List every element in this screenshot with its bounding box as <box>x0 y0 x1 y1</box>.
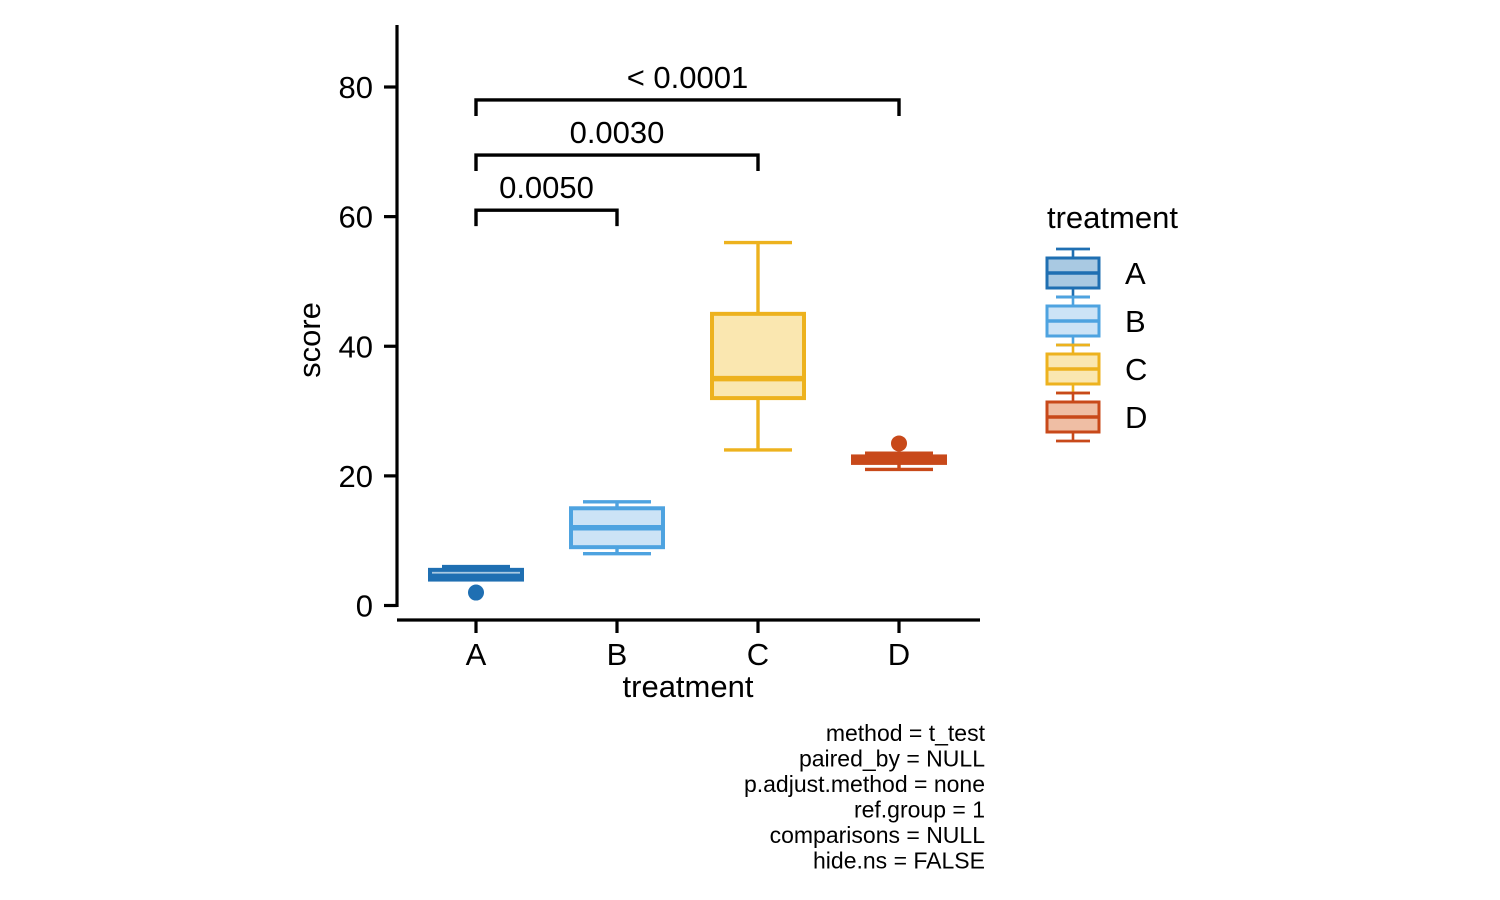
p-value-label: < 0.0001 <box>627 60 749 95</box>
legend-item-a[interactable]: A <box>1047 249 1146 297</box>
caption-line: comparisons = NULL <box>770 822 986 848</box>
y-tick-label: 80 <box>339 70 373 105</box>
legend-item-d[interactable]: D <box>1047 393 1147 441</box>
x-tick-label: D <box>888 637 910 672</box>
caption-block: method = t_testpaired_by = NULLp.adjust.… <box>744 720 986 874</box>
y-tick-label: 40 <box>339 329 373 364</box>
y-tick-label: 60 <box>339 200 373 235</box>
y-axis-title: score <box>292 302 327 378</box>
caption-line: p.adjust.method = none <box>744 771 985 797</box>
boxplot-series <box>430 243 945 601</box>
boxplot-figure: 020406080 ABCD score treatment < 0.00010… <box>0 0 1500 900</box>
significance-bracket: 0.0050 <box>476 170 617 226</box>
x-axis-ticks: ABCD <box>466 620 911 672</box>
boxplot-d[interactable] <box>853 435 945 469</box>
legend-label: C <box>1125 352 1147 387</box>
caption-line: ref.group = 1 <box>854 797 985 823</box>
legend-item-b[interactable]: B <box>1047 297 1146 345</box>
chart-root: 020406080 ABCD score treatment < 0.00010… <box>0 0 1500 900</box>
boxplot-a[interactable] <box>430 567 522 601</box>
box-iqr <box>712 314 804 398</box>
bracket-path <box>476 100 899 116</box>
caption-line: paired_by = NULL <box>799 746 985 772</box>
y-tick-label: 0 <box>356 589 373 624</box>
outlier-point <box>468 585 484 601</box>
x-tick-label: B <box>607 637 628 672</box>
legend-item-c[interactable]: C <box>1047 345 1147 393</box>
boxplot-b[interactable] <box>571 502 663 554</box>
legend-label: A <box>1125 256 1146 291</box>
legend: ABCD <box>1047 249 1147 441</box>
legend-label: B <box>1125 304 1146 339</box>
p-value-label: 0.0050 <box>499 170 594 205</box>
boxplot-c[interactable] <box>712 243 804 450</box>
significance-brackets: < 0.00010.00300.0050 <box>476 60 899 226</box>
x-tick-label: C <box>747 637 769 672</box>
caption-line: hide.ns = FALSE <box>813 848 985 874</box>
outlier-point <box>891 435 907 451</box>
significance-bracket: < 0.0001 <box>476 60 899 116</box>
y-axis-ticks: 020406080 <box>339 70 397 624</box>
x-tick-label: A <box>466 637 487 672</box>
significance-bracket: 0.0030 <box>476 115 758 171</box>
legend-title: treatment <box>1047 200 1178 235</box>
legend-label: D <box>1125 400 1147 435</box>
x-axis-title: treatment <box>623 669 754 704</box>
bracket-path <box>476 210 617 226</box>
p-value-label: 0.0030 <box>570 115 665 150</box>
bracket-path <box>476 155 758 171</box>
y-tick-label: 20 <box>339 459 373 494</box>
caption-line: method = t_test <box>826 720 986 746</box>
